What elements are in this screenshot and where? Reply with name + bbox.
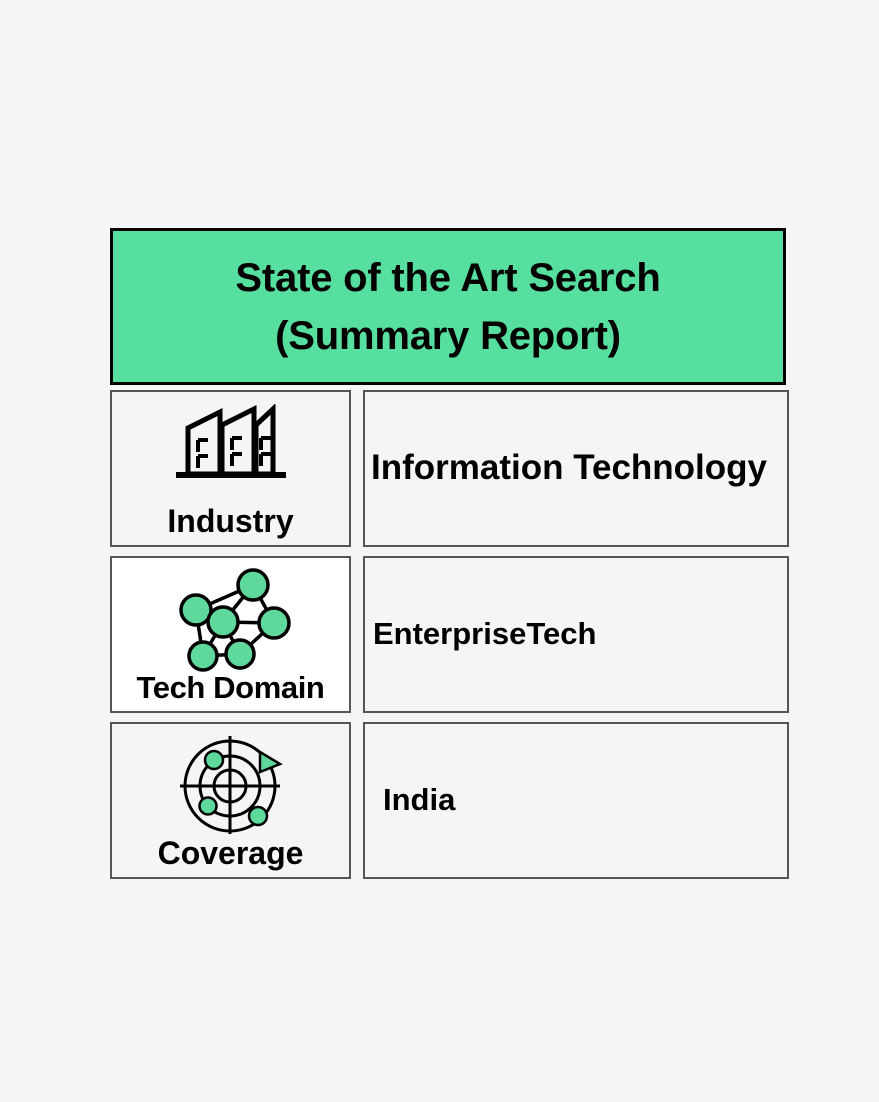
table-row: Coverage India: [110, 722, 789, 879]
row-label-coverage: Coverage: [112, 837, 349, 869]
column-gap: [351, 722, 363, 879]
row-value-industry: Information Technology: [365, 449, 767, 488]
summary-report-card: State of the Art Search (Summary Report): [110, 228, 789, 879]
row-value-cell-coverage: India: [363, 722, 789, 879]
report-title-line-2: (Summary Report): [275, 307, 621, 365]
table-row: Tech Domain EnterpriseTech: [110, 556, 789, 713]
table-row: Industry Information Technology: [110, 390, 789, 547]
row-value-cell-industry: Information Technology: [363, 390, 789, 547]
row-label-cell-tech-domain: Tech Domain: [110, 556, 351, 713]
network-graph-icon-container: [112, 566, 349, 672]
radar-icon-container: [112, 734, 349, 834]
row-value-cell-tech-domain: EnterpriseTech: [363, 556, 789, 713]
factory-icon-container: [112, 404, 349, 482]
column-gap: [351, 556, 363, 713]
radar-icon: [178, 734, 284, 834]
factory-icon: [176, 404, 286, 482]
report-rows: Industry Information Technology: [110, 390, 789, 879]
row-value-tech-domain: EnterpriseTech: [365, 617, 596, 651]
row-label-tech-domain: Tech Domain: [112, 672, 349, 703]
row-value-coverage: India: [365, 783, 455, 817]
report-title-banner: State of the Art Search (Summary Report): [110, 228, 786, 385]
column-gap: [351, 390, 363, 547]
row-label-industry: Industry: [112, 505, 349, 537]
report-title-line-1: State of the Art Search: [235, 249, 660, 307]
network-graph-icon: [170, 566, 292, 672]
row-label-cell-coverage: Coverage: [110, 722, 351, 879]
row-label-cell-industry: Industry: [110, 390, 351, 547]
